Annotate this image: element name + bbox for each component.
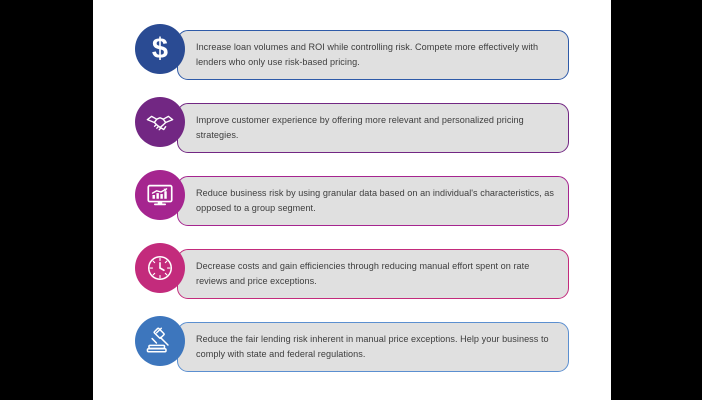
list-item[interactable]: Improve customer experience by offering … [135,97,569,159]
benefit-card[interactable]: Reduce the fair lending risk inherent in… [177,322,569,372]
benefit-icon-badge [135,97,185,147]
gavel-icon [145,326,175,356]
screenshot-stage: Increase loan volumes and ROI while cont… [0,0,702,400]
benefit-text: Increase loan volumes and ROI while cont… [178,40,568,69]
benefit-text: Improve customer experience by offering … [178,113,568,142]
handshake-icon [145,107,175,137]
benefit-icon-badge [135,243,185,293]
benefit-text: Reduce business risk by using granular d… [178,186,568,215]
list-item[interactable]: Decrease costs and gain efficiencies thr… [135,243,569,305]
benefit-list: Increase loan volumes and ROI while cont… [93,0,611,400]
dollar-sign-icon: $ [152,35,168,64]
benefit-icon-badge: $ [135,24,185,74]
benefit-icon-badge [135,316,185,366]
benefit-icon-badge [135,170,185,220]
clock-icon [145,253,175,283]
benefit-text: Decrease costs and gain efficiencies thr… [178,259,568,288]
list-item[interactable]: Reduce business risk by using granular d… [135,170,569,232]
diagram-canvas: Increase loan volumes and ROI while cont… [93,0,611,400]
benefit-card[interactable]: Improve customer experience by offering … [177,103,569,153]
list-item[interactable]: Reduce the fair lending risk inherent in… [135,316,569,378]
list-item[interactable]: Increase loan volumes and ROI while cont… [135,24,569,86]
benefit-card[interactable]: Decrease costs and gain efficiencies thr… [177,249,569,299]
benefit-card[interactable]: Increase loan volumes and ROI while cont… [177,30,569,80]
benefit-card[interactable]: Reduce business risk by using granular d… [177,176,569,226]
monitor-bar-chart-icon [145,180,175,210]
benefit-text: Reduce the fair lending risk inherent in… [178,332,568,361]
